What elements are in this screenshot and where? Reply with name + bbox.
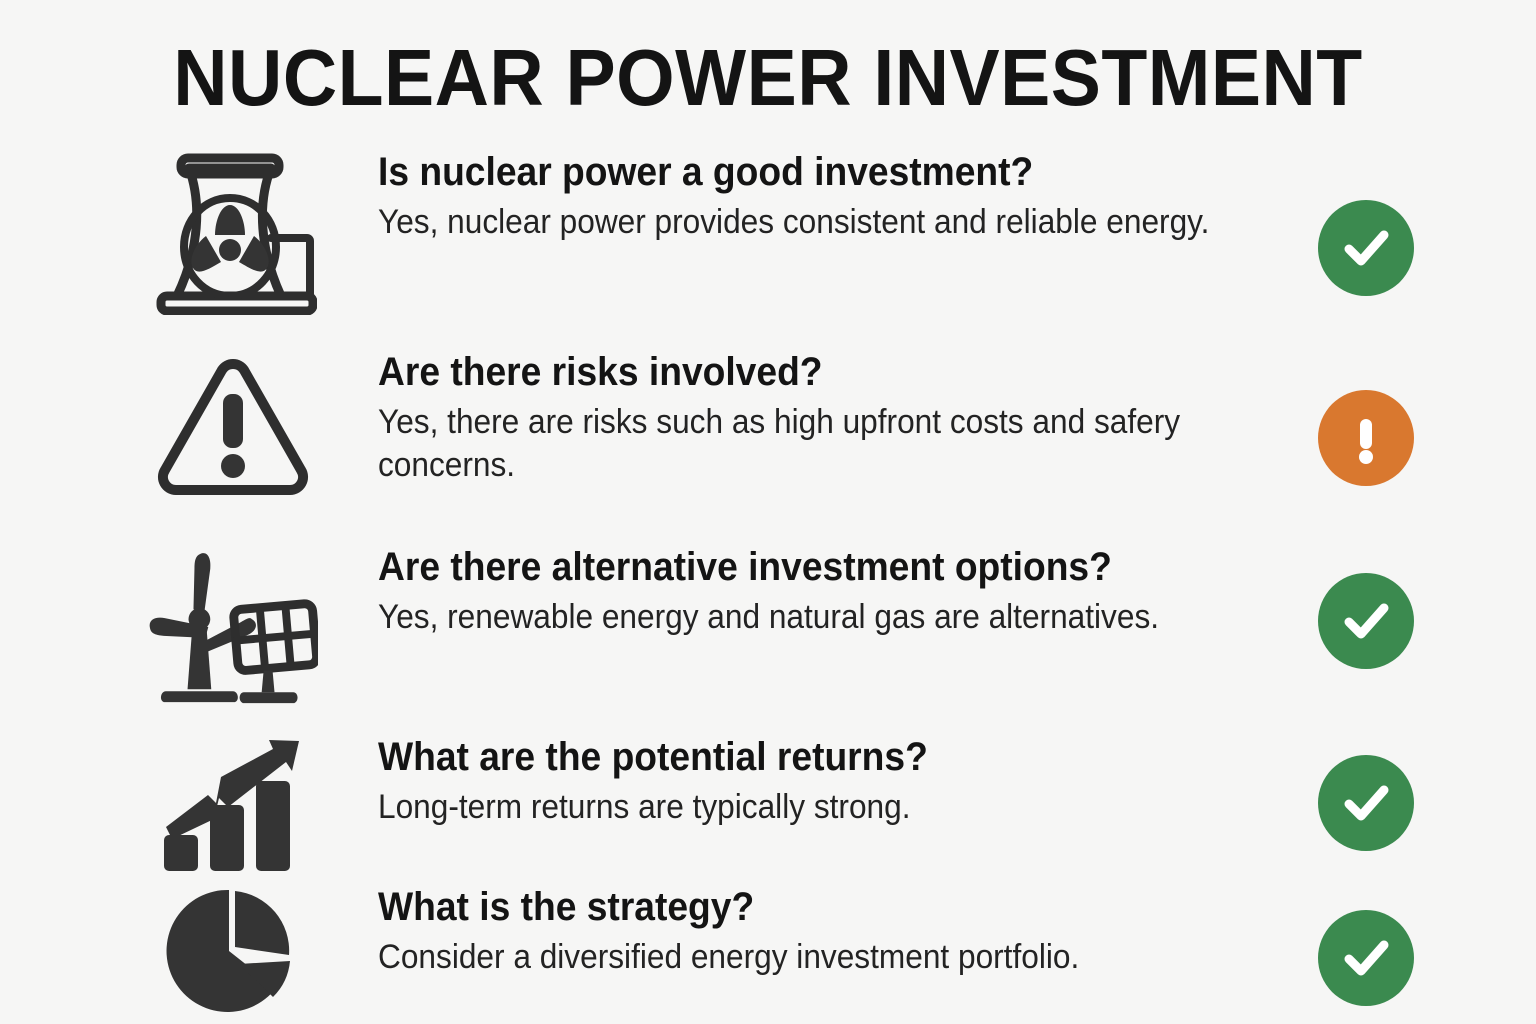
pie-chart-icon: [148, 885, 318, 1024]
warning-triangle-icon: [148, 350, 318, 510]
list-item: Are there alternative investment options…: [0, 545, 1536, 735]
status-badge-cell: [1318, 200, 1422, 304]
status-badge[interactable]: [1318, 390, 1414, 486]
status-badge[interactable]: [1318, 910, 1414, 1006]
check-icon: [1337, 219, 1395, 277]
faq-question: Are there alternative investment options…: [378, 545, 1257, 590]
status-badge[interactable]: [1318, 755, 1414, 851]
faq-answer: Yes, nuclear power provides consistent a…: [378, 201, 1257, 245]
check-icon: [1337, 592, 1395, 650]
faq-question: What are the potential returns?: [378, 735, 1257, 780]
status-badge-cell: [1318, 390, 1422, 494]
faq-answer: Consider a diversified energy investment…: [378, 936, 1257, 980]
faq-question: Are there risks involved?: [378, 350, 1257, 395]
status-badge-cell: [1318, 755, 1422, 859]
growth-chart-icon: [148, 735, 318, 895]
check-icon: [1337, 929, 1395, 987]
faq-answer: Long-term returns are typically strong.: [378, 786, 1257, 830]
list-item: Are there risks involved? Yes, there are…: [0, 350, 1536, 545]
status-badge[interactable]: [1318, 573, 1414, 669]
list-item: Is nuclear power a good investment? Yes,…: [0, 150, 1536, 350]
faq-text: Are there alternative investment options…: [378, 545, 1323, 639]
status-badge[interactable]: [1318, 200, 1414, 296]
faq-answer: Yes, renewable energy and natural gas ar…: [378, 596, 1257, 640]
page-title: NUCLEAR POWER INVESTMENT: [46, 38, 1490, 118]
faq-text: What is the strategy? Consider a diversi…: [378, 885, 1323, 979]
renewable-energy-icon: [148, 545, 318, 705]
faq-text: Is nuclear power a good investment? Yes,…: [378, 150, 1323, 244]
faq-answer: Yes, there are risks such as high upfron…: [378, 401, 1257, 488]
exclamation-icon: [1337, 409, 1395, 467]
list-item: What is the strategy? Consider a diversi…: [0, 885, 1536, 1024]
faq-text: What are the potential returns? Long-ter…: [378, 735, 1323, 829]
faq-question: What is the strategy?: [378, 885, 1257, 930]
check-icon: [1337, 774, 1395, 832]
status-badge-cell: [1318, 573, 1422, 677]
list-item: What are the potential returns? Long-ter…: [0, 735, 1536, 885]
faq-text: Are there risks involved? Yes, there are…: [378, 350, 1323, 488]
infographic-canvas: NUCLEAR POWER INVESTMENT: [0, 0, 1536, 1024]
faq-question: Is nuclear power a good investment?: [378, 150, 1257, 195]
status-badge-cell: [1318, 910, 1422, 1014]
nuclear-plant-icon: [148, 150, 318, 310]
